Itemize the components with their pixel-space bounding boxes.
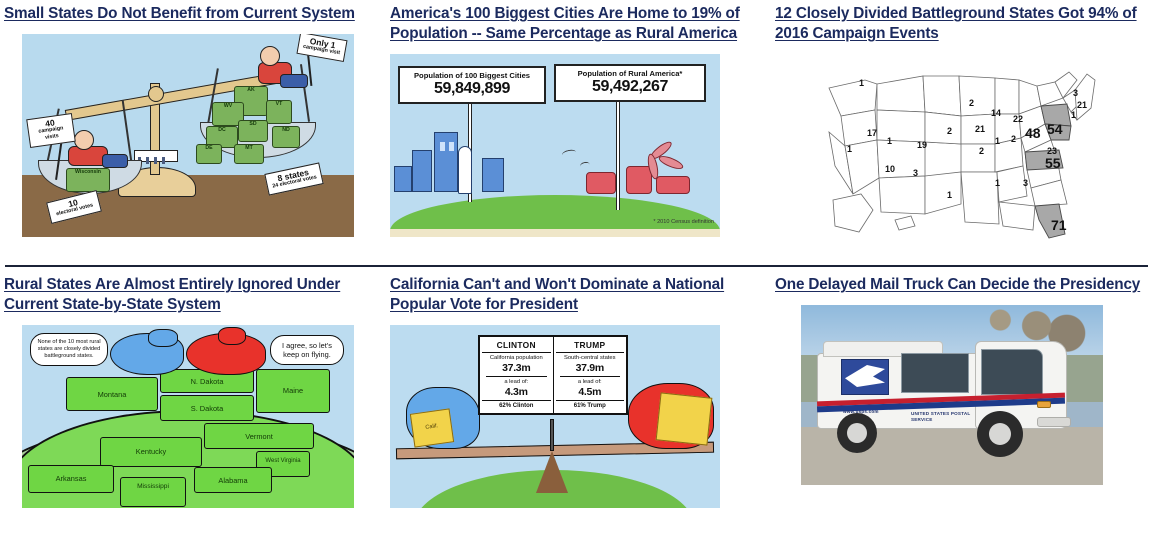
map-value-mn: 2 bbox=[969, 98, 974, 108]
elephant-ear bbox=[218, 327, 246, 345]
barn bbox=[586, 172, 616, 194]
usps-mail-truck-photo: www.usps.com UNITED STATES POSTAL SERVIC… bbox=[801, 305, 1103, 485]
headline-link-battleground-states[interactable]: 12 Closely Divided Battleground States G… bbox=[775, 0, 1153, 44]
figure-mail-truck: www.usps.com UNITED STATES POSTAL SERVIC… bbox=[775, 295, 1153, 485]
city-window bbox=[440, 142, 445, 151]
map-value-nm: 3 bbox=[913, 168, 918, 178]
card-battleground-states: 12 Closely Divided Battleground States G… bbox=[775, 0, 1153, 249]
state-block-mt: MT bbox=[234, 144, 264, 164]
map-value-fl: 71 bbox=[1051, 217, 1067, 233]
barn bbox=[626, 166, 652, 194]
card-small-states: Small States Do Not Benefit from Current… bbox=[0, 0, 390, 249]
map-value-ia: 21 bbox=[975, 124, 985, 134]
card-row-2: Rural States Are Almost Entirely Ignored… bbox=[0, 267, 1153, 508]
truck-rear-hub bbox=[847, 423, 867, 443]
state-vermont: Vermont bbox=[204, 423, 314, 449]
headline-link-mail-truck[interactable]: One Delayed Mail Truck Can Decide the Pr… bbox=[775, 267, 1153, 295]
map-value-wi: 14 bbox=[991, 108, 1001, 118]
person-head-left bbox=[74, 130, 94, 150]
figure-california: Calif. CLINTON California population 37.… bbox=[390, 315, 775, 508]
cartoon-road bbox=[390, 229, 720, 237]
clinton-share: 62% Clinton bbox=[482, 400, 551, 409]
state-block-wisconsin: Wisconsin bbox=[66, 168, 110, 192]
trump-share: 61% Trump bbox=[556, 400, 625, 409]
map-value-mo: 2 bbox=[979, 146, 984, 156]
sign-post bbox=[550, 419, 554, 451]
map-value-ga: 3 bbox=[1023, 178, 1028, 188]
map-value-me: 3 bbox=[1073, 88, 1078, 98]
state-block-sd: SD bbox=[238, 120, 268, 142]
map-value-ny: 1 bbox=[1071, 110, 1076, 120]
seesaw-comparison-cartoon: Calif. CLINTON California population 37.… bbox=[390, 325, 720, 508]
population-billboards-cartoon: Population of 100 Biggest Cities 59,849,… bbox=[390, 54, 720, 237]
state-block-vt: VT bbox=[266, 100, 292, 124]
billboard-rural-value: 59,492,267 bbox=[558, 78, 702, 96]
speech-bubble-left: None of the 10 most rural states are clo… bbox=[30, 333, 108, 366]
map-value-oh: 48 bbox=[1025, 125, 1041, 141]
state-montana: Montana bbox=[66, 377, 158, 411]
state-alabama: Alabama bbox=[194, 467, 272, 493]
infographic-page: Small States Do Not Benefit from Current… bbox=[0, 0, 1153, 508]
billboard-footnote: * 2010 Census definition bbox=[653, 219, 714, 225]
map-value-wa: 1 bbox=[859, 78, 864, 88]
comparison-table: CLINTON California population 37.3m a le… bbox=[478, 335, 628, 415]
map-value-tx: 1 bbox=[947, 190, 952, 200]
headline-link-california[interactable]: California Can't and Won't Dominate a Na… bbox=[390, 267, 775, 315]
seesaw-fulcrum bbox=[536, 451, 568, 493]
flag-label-right: Only 1 campaign visit bbox=[296, 34, 347, 62]
rural-states-flyover-cartoon: Montana N. Dakota S. Dakota Maine Vermon… bbox=[22, 325, 354, 508]
person-head-right bbox=[260, 46, 280, 66]
map-value-ut: 1 bbox=[887, 136, 892, 146]
truck-windshield bbox=[981, 349, 1043, 395]
flag-left-text: campaign visits bbox=[38, 125, 64, 141]
trump-lead: 4.5m bbox=[556, 386, 625, 398]
figure-small-states: Wisconsin 40 campaign visits 10 electora… bbox=[4, 24, 390, 237]
state-maine: Maine bbox=[256, 369, 330, 413]
truck-bumper bbox=[1037, 417, 1071, 427]
truck-side-window bbox=[901, 353, 969, 393]
billboard-rural-caption: Population of Rural America* bbox=[558, 69, 702, 78]
city-window bbox=[449, 142, 454, 151]
map-value-mi: 22 bbox=[1013, 114, 1023, 124]
city-building bbox=[412, 150, 432, 192]
clinton-lead: 4.3m bbox=[482, 386, 551, 398]
map-value-co: 19 bbox=[917, 140, 927, 150]
map-value-ne: 2 bbox=[947, 126, 952, 136]
column-header-trump: TRUMP bbox=[556, 340, 625, 353]
map-value-nv: 17 bbox=[867, 128, 877, 138]
headline-link-rural-states[interactable]: Rural States Are Almost Entirely Ignored… bbox=[4, 267, 390, 315]
state-arkansas: Arkansas bbox=[28, 465, 114, 493]
person-legs-right bbox=[280, 74, 308, 88]
trump-lead-label: a lead of: bbox=[556, 379, 625, 386]
map-value-ca: 1 bbox=[847, 144, 852, 154]
balance-scale-cartoon: Wisconsin 40 campaign visits 10 electora… bbox=[22, 34, 354, 237]
us-map-svg: 1 1 17 10 1 3 19 2 21 2 14 22 1 bbox=[819, 54, 1109, 249]
card-california: California Can't and Won't Dominate a Na… bbox=[390, 267, 775, 508]
donkey-blanket-label: Calif. bbox=[410, 408, 454, 447]
headline-link-biggest-cities[interactable]: America's 100 Biggest Cities Are Home to… bbox=[390, 0, 775, 44]
scale-pivot bbox=[148, 86, 164, 102]
column-header-clinton: CLINTON bbox=[482, 340, 551, 353]
silo bbox=[656, 176, 690, 194]
billboard-rural: Population of Rural America* 59,492,267 bbox=[554, 64, 706, 102]
card-row-1: Small States Do Not Benefit from Current… bbox=[0, 0, 1153, 249]
flag-label-left: 40 campaign visits bbox=[26, 113, 76, 148]
billboard-cities-value: 59,849,899 bbox=[402, 80, 542, 98]
person-legs-left bbox=[102, 154, 128, 168]
speech-bubble-right: I agree, so let's keep on flying. bbox=[270, 335, 344, 365]
map-value-az: 10 bbox=[885, 164, 895, 174]
card-biggest-cities: America's 100 Biggest Cities Are Home to… bbox=[390, 0, 775, 249]
water-tower bbox=[458, 146, 472, 194]
state-block-nd: ND bbox=[272, 126, 300, 148]
state-block-de: DE bbox=[196, 144, 222, 164]
figure-battleground-states: 1 1 17 10 1 3 19 2 21 2 14 22 1 bbox=[775, 44, 1153, 249]
billboard-cities: Population of 100 Biggest Cities 59,849,… bbox=[398, 66, 546, 104]
state-south-dakota: S. Dakota bbox=[160, 395, 254, 421]
billboard-cities-caption: Population of 100 Biggest Cities bbox=[402, 71, 542, 80]
state-mississippi: Mississippi bbox=[120, 477, 186, 507]
clinton-lead-label: a lead of: bbox=[482, 379, 551, 386]
truck-agency-text: UNITED STATES POSTAL SERVICE bbox=[911, 411, 971, 423]
trump-population: 37.9m bbox=[556, 362, 625, 374]
map-value-pa: 54 bbox=[1047, 121, 1063, 137]
truck-front-hub bbox=[989, 423, 1011, 445]
map-value-in: 2 bbox=[1011, 134, 1016, 144]
city-building bbox=[482, 158, 504, 192]
map-value-nc: 55 bbox=[1045, 155, 1061, 171]
figure-biggest-cities: Population of 100 Biggest Cities 59,849,… bbox=[390, 44, 775, 237]
state-kentucky: Kentucky bbox=[100, 437, 202, 467]
card-mail-truck: One Delayed Mail Truck Can Decide the Pr… bbox=[775, 267, 1153, 508]
card-rural-states: Rural States Are Almost Entirely Ignored… bbox=[0, 267, 390, 508]
clinton-subject: California population bbox=[482, 355, 551, 362]
trump-subject: South-central states bbox=[556, 355, 625, 362]
city-building bbox=[434, 132, 458, 192]
table-column-clinton: CLINTON California population 37.3m a le… bbox=[480, 337, 553, 413]
map-value-nh: 21 bbox=[1077, 100, 1087, 110]
map-value-la: 1 bbox=[995, 178, 1000, 188]
truck-turn-signal bbox=[1037, 401, 1051, 408]
donkey-ear bbox=[148, 329, 178, 347]
figure-rural-states: Montana N. Dakota S. Dakota Maine Vermon… bbox=[4, 315, 390, 508]
table-column-trump: TRUMP South-central states 37.9m a lead … bbox=[553, 337, 627, 413]
map-value-il: 1 bbox=[995, 136, 1000, 146]
headline-link-small-states[interactable]: Small States Do Not Benefit from Current… bbox=[4, 0, 390, 24]
clinton-population: 37.3m bbox=[482, 362, 551, 374]
elephant-blanket bbox=[656, 392, 713, 445]
city-building bbox=[394, 166, 412, 192]
campaign-events-map: 1 1 17 10 1 3 19 2 21 2 14 22 1 bbox=[819, 54, 1109, 249]
